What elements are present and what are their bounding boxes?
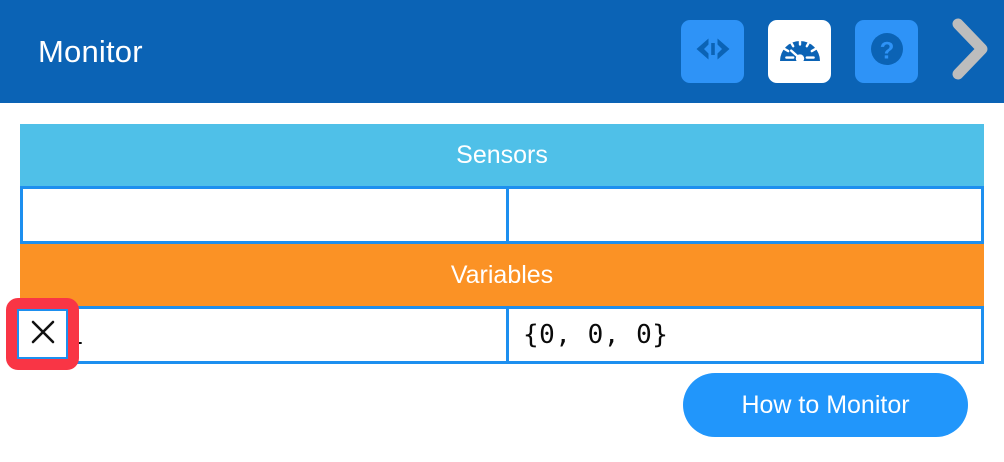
help-button[interactable]: ?: [855, 20, 918, 83]
monitor-view-button[interactable]: [768, 20, 831, 83]
help-icon: ?: [867, 29, 907, 74]
delete-variable-button[interactable]: [17, 309, 68, 359]
close-icon: [28, 317, 58, 352]
gauge-icon: [778, 32, 822, 71]
svg-text:?: ?: [879, 38, 894, 65]
how-to-monitor-button[interactable]: How to Monitor: [683, 373, 968, 437]
variables-section-header: Variables: [20, 244, 984, 306]
page-title: Monitor: [38, 36, 143, 67]
sensors-table-row: [20, 186, 984, 244]
app-header: Monitor: [0, 0, 1004, 103]
chevron-right-icon: [946, 18, 990, 85]
variable-value-cell[interactable]: {0, 0, 0}: [506, 309, 981, 361]
code-view-button[interactable]: [681, 20, 744, 83]
sensors-section-header: Sensors: [20, 124, 984, 186]
code-icon: [693, 35, 733, 68]
sensor-name-cell[interactable]: [23, 189, 506, 241]
variable-name-cell[interactable]: list1: [23, 309, 506, 361]
header-actions: ?: [681, 17, 1004, 87]
monitor-table: Sensors Variables list1 {0, 0, 0}: [20, 124, 984, 364]
next-page-button[interactable]: [940, 17, 996, 87]
variables-table-row: list1 {0, 0, 0}: [20, 306, 984, 364]
sensor-value-cell[interactable]: [506, 189, 981, 241]
